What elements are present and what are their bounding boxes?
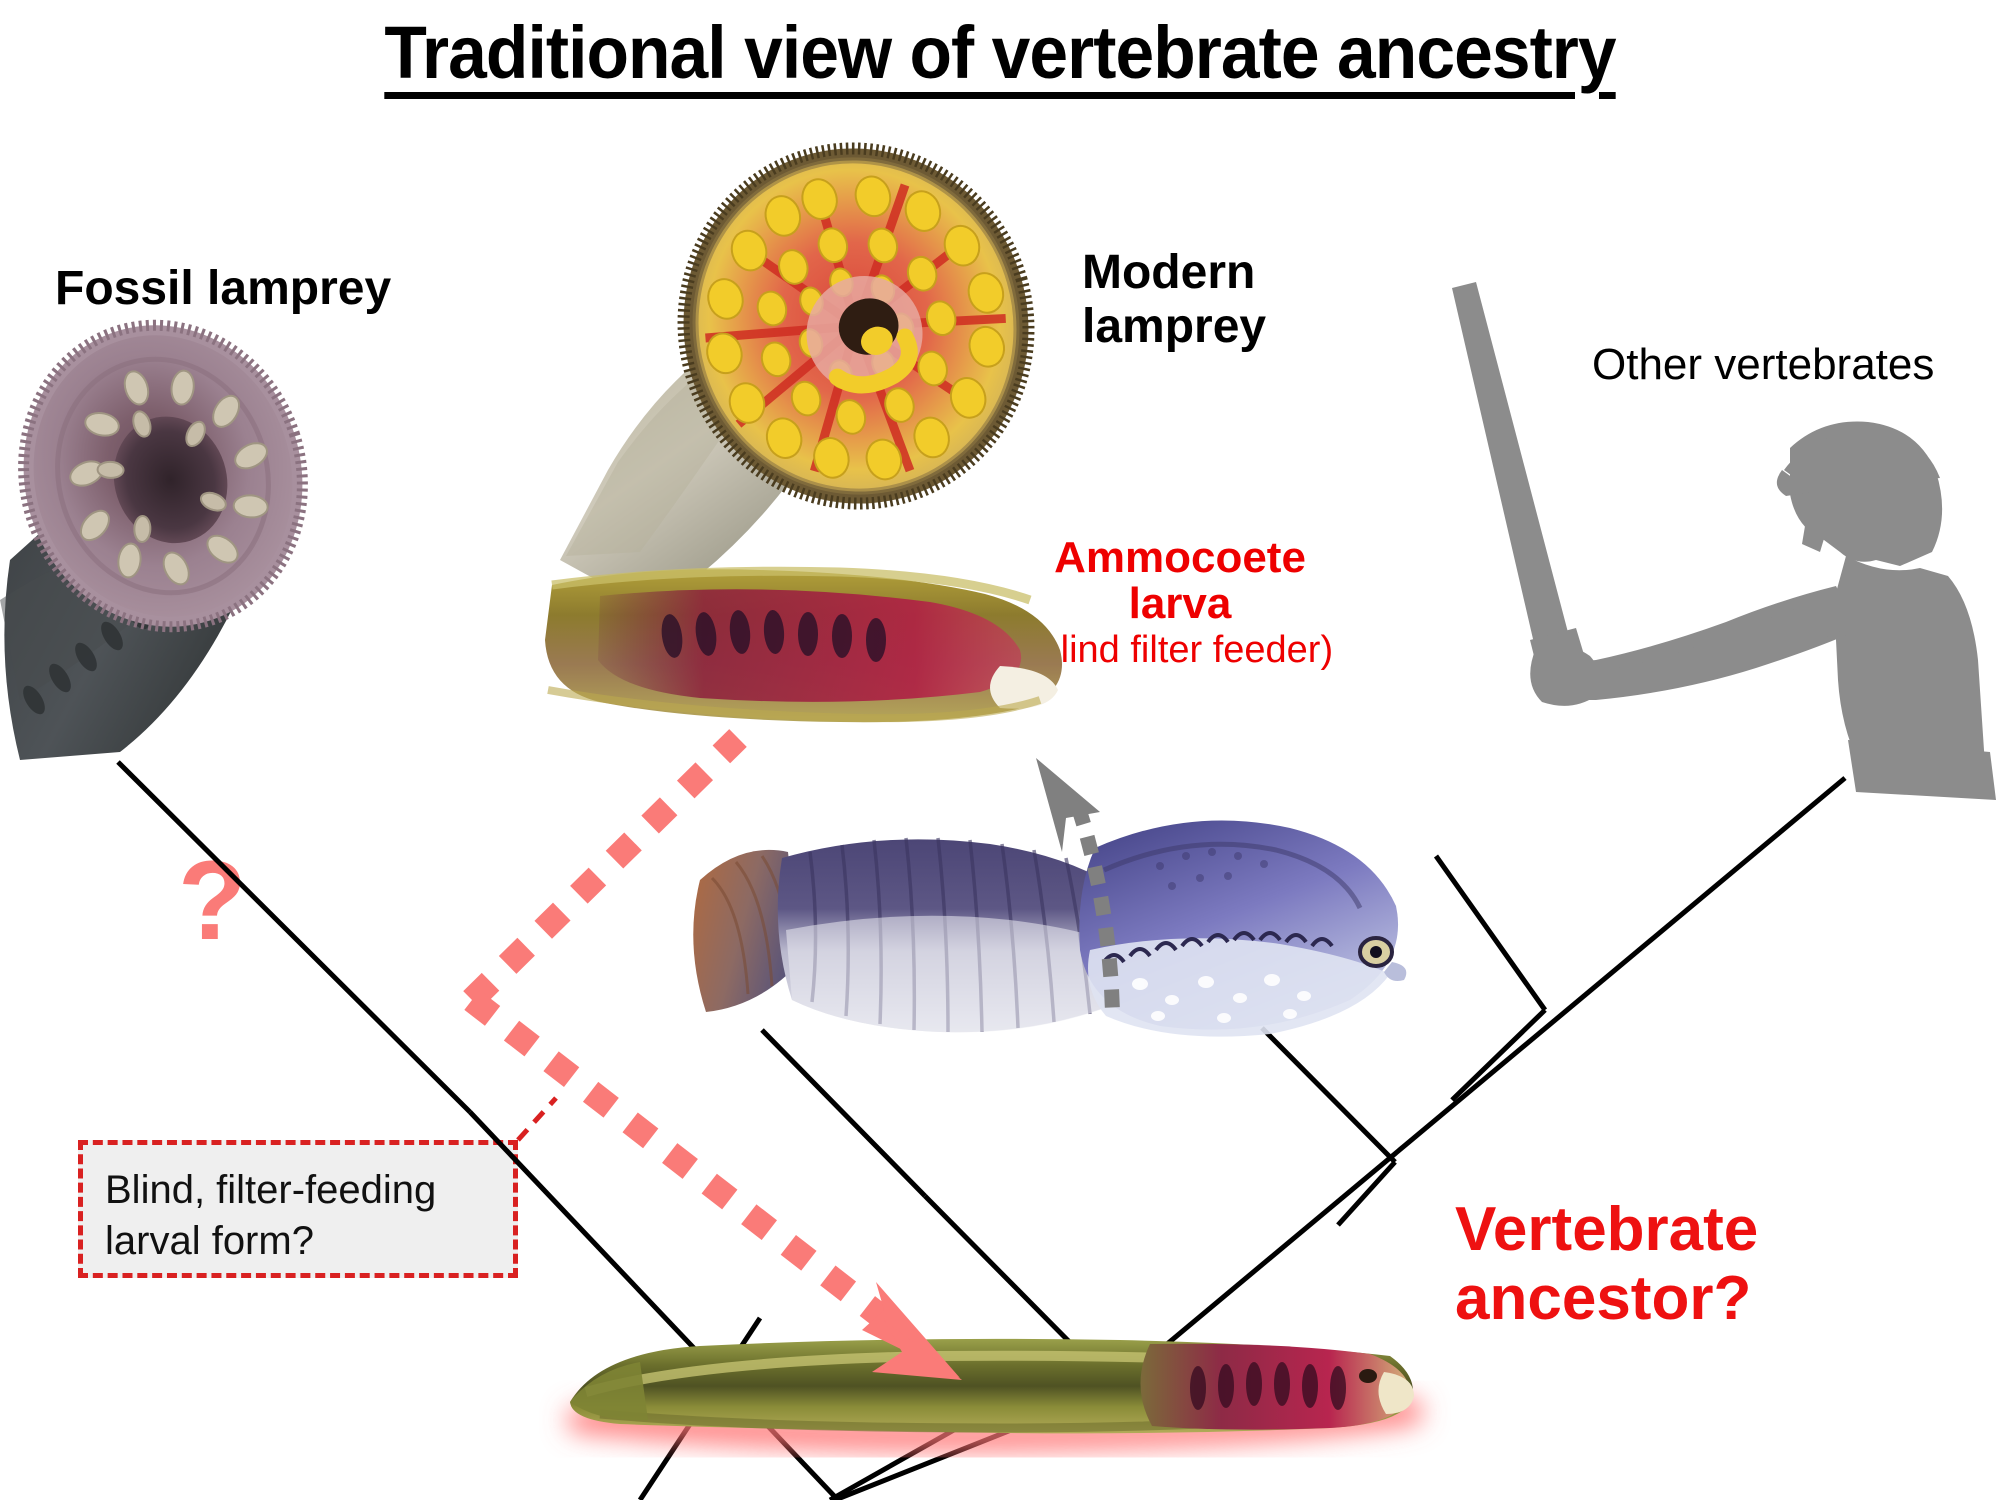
hypothesis-arrow-down: [472, 1000, 962, 1380]
diagram-canvas: Traditional view of vertebrate ancestry: [0, 0, 2000, 1500]
metamorphosis-arrow: [1036, 758, 1112, 1000]
annotation-arrows: [0, 0, 2000, 1500]
callout-pointer: [518, 1098, 556, 1140]
hypothesis-arrow-up: [472, 738, 738, 1000]
